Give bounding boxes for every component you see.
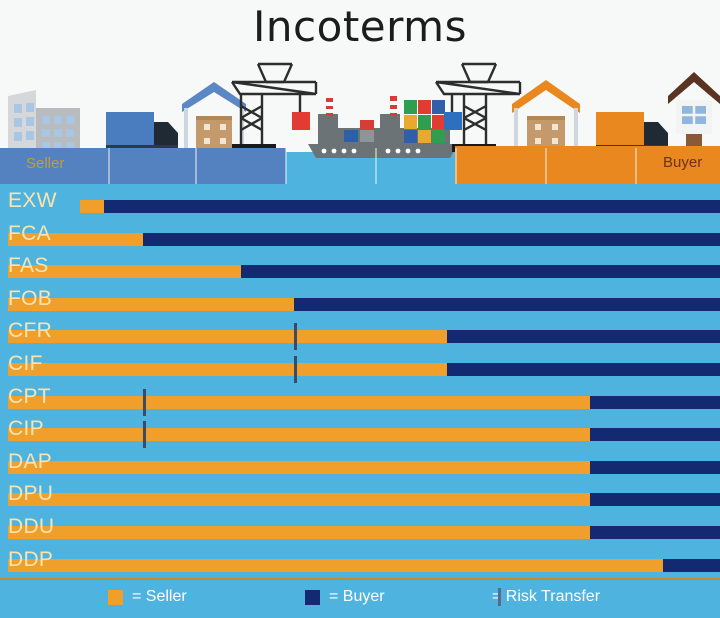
row-label-ddp: DDP <box>8 549 53 570</box>
risk-transfer-marker <box>294 356 297 383</box>
container-red <box>292 112 310 130</box>
buyer-segment <box>241 265 720 278</box>
buyer-segment <box>590 396 720 409</box>
chart-row <box>0 363 720 376</box>
legend-item-buyer: = Buyer <box>305 588 385 606</box>
chart-row <box>0 233 720 246</box>
seller-segment <box>8 396 590 409</box>
row-label-cif: CIF <box>8 353 43 374</box>
buyer-segment <box>590 461 720 474</box>
risk-transfer-marker <box>294 323 297 350</box>
chart-row <box>0 396 720 409</box>
row-label-fob: FOB <box>8 288 52 309</box>
legend-item-risk: = Risk Transfer <box>492 588 600 606</box>
buyer-segment <box>447 330 720 343</box>
seller-segment <box>80 200 104 213</box>
buyer-segment <box>294 298 720 311</box>
buyer-segment <box>447 363 720 376</box>
legend-swatch-risk-icon <box>498 588 501 606</box>
buyer-segment <box>143 233 720 246</box>
chart-legend: = Seller= Buyer= Risk Transfer <box>0 578 720 618</box>
legend-label-buyer: = Buyer <box>329 588 385 606</box>
chart-row <box>0 428 720 441</box>
chart-row <box>0 461 720 474</box>
chart-row <box>0 265 720 278</box>
seller-segment <box>8 559 663 572</box>
seller-band-label: Seller <box>26 155 64 172</box>
house-icon <box>668 72 720 152</box>
legend-swatch-buyer-icon <box>305 590 320 605</box>
legend-divider <box>0 578 720 580</box>
buyer-segment <box>590 526 720 539</box>
seller-segment <box>8 330 447 343</box>
seller-segment <box>8 461 590 474</box>
buyer-segment <box>663 559 720 572</box>
legend-item-seller: = Seller <box>108 588 187 606</box>
buyer-segment <box>104 200 720 213</box>
chart-row <box>0 493 720 506</box>
chart-row <box>0 200 720 213</box>
seller-segment <box>8 428 590 441</box>
row-label-ddu: DDU <box>8 516 54 537</box>
legend-label-risk: = Risk Transfer <box>492 588 600 606</box>
row-label-fas: FAS <box>8 255 49 276</box>
buyer-segment <box>590 428 720 441</box>
chart-row <box>0 330 720 343</box>
row-label-cpt: CPT <box>8 386 51 407</box>
chart-row <box>0 526 720 539</box>
row-label-fca: FCA <box>8 223 51 244</box>
risk-transfer-marker <box>143 421 146 448</box>
page-title: Incoterms <box>0 2 720 51</box>
legend-swatch-seller-icon <box>108 590 123 605</box>
warehouse-icon <box>182 82 246 150</box>
incoterms-chart <box>0 184 720 580</box>
row-label-cip: CIP <box>8 418 44 439</box>
chart-row <box>0 559 720 572</box>
infographic-root: Seller Buyer Incoterms = Seller= Buyer= … <box>0 0 720 618</box>
scene-objects <box>0 56 720 160</box>
row-label-cfr: CFR <box>8 320 52 341</box>
buyer-band-label: Buyer <box>663 154 702 171</box>
seller-segment <box>8 493 590 506</box>
warehouse-icon <box>512 80 580 150</box>
chart-row <box>0 298 720 311</box>
row-label-dpu: DPU <box>8 483 53 504</box>
factory-icon <box>8 90 80 152</box>
row-label-exw: EXW <box>8 190 57 211</box>
legend-label-seller: = Seller <box>132 588 187 606</box>
risk-transfer-marker <box>143 389 146 416</box>
row-label-dap: DAP <box>8 451 52 472</box>
seller-segment <box>8 363 447 376</box>
seller-segment <box>8 526 590 539</box>
buyer-segment <box>590 493 720 506</box>
container-blue <box>444 112 462 130</box>
